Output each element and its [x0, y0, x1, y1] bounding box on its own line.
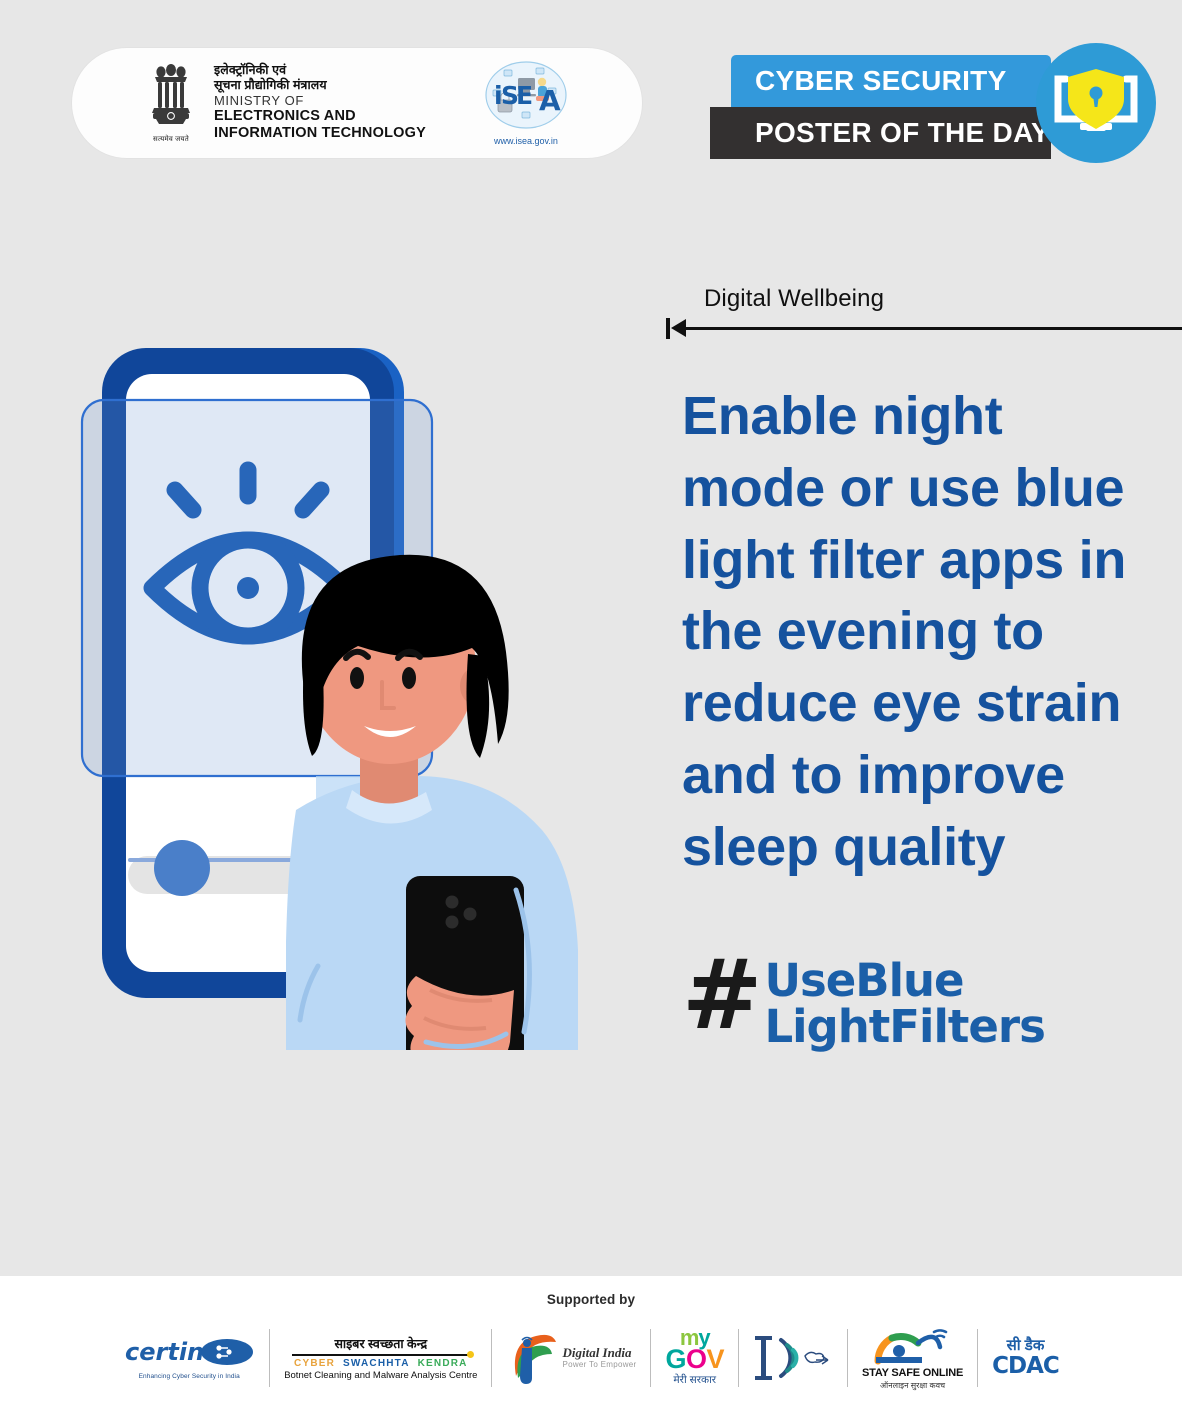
stay-safe-online-logo-icon: [872, 1325, 954, 1365]
state-emblem-block: सत्यमेव जयते: [138, 62, 204, 144]
certin-logo-icon: certin: [123, 1336, 255, 1370]
logo-stay-safe-online: STAY SAFE ONLINE ऑनलाइन सुरक्षा कवच: [848, 1325, 977, 1391]
rule-line: [682, 327, 1182, 330]
svg-text:certin: certin: [125, 1338, 204, 1366]
ribbon-poster-of-the-day: POSTER OF THE DAY: [710, 107, 1051, 159]
logo-certin: certin Enhancing Cyber Security in India: [109, 1325, 269, 1391]
hash-symbol: #: [682, 954, 758, 1037]
ministry-hindi-line1: इलेक्ट्रॉनिकी एवं: [214, 63, 426, 78]
divider-rule: [660, 315, 1182, 341]
poster-header: सत्यमेव जयते इलेक्ट्रॉनिकी एवं सूचना प्र…: [0, 0, 1182, 186]
logo-icc: [739, 1325, 847, 1391]
ministry-en-line3: INFORMATION TECHNOLOGY: [214, 125, 426, 142]
digital-india-text: Digital India Power To Empower: [562, 1346, 636, 1369]
page-title: Enable night mode or use blue light filt…: [682, 381, 1152, 884]
ribbon-line2: POSTER OF THE DAY: [755, 117, 1050, 149]
hashtag-line2: LightFilters: [764, 1004, 1044, 1050]
isea-logo-icon: i S E A: [484, 60, 568, 134]
ministry-hindi-line2: सूचना प्रौद्योगिकी मंत्रालय: [214, 78, 426, 93]
csk-rule: [292, 1354, 470, 1356]
partner-logo-row: certin Enhancing Cyber Security in India…: [0, 1319, 1182, 1397]
poster-footer: Supported by certin Enhancing Cyber Secu…: [0, 1276, 1182, 1418]
hashtag-words: UseBlue LightFilters: [764, 958, 1044, 1050]
ministry-en-line1: MINISTRY OF: [214, 93, 426, 108]
emblem-motto: सत्यमेव जयते: [153, 135, 189, 144]
digital-india-title: Digital India: [562, 1346, 636, 1360]
night-mode-illustration: [60, 290, 660, 1050]
supported-by-label: Supported by: [0, 1276, 1182, 1307]
category-label: Digital Wellbeing: [704, 285, 1182, 313]
cyber-security-badge: [1036, 43, 1156, 163]
logo-cyber-swachhta-kendra: साइबर स्वच्छता केन्द्र CYBER SWACHHTA KE…: [270, 1325, 491, 1391]
india-state-emblem-icon: [145, 62, 197, 134]
svg-text:A: A: [539, 84, 561, 117]
hashtag-block: # UseBlue LightFilters: [682, 954, 1182, 1050]
monitor-shield-lock-icon: [1036, 43, 1156, 163]
csk-english: CYBER SWACHHTA KENDRA: [294, 1358, 468, 1369]
isea-url: www.isea.gov.in: [494, 136, 558, 146]
digital-india-tagline: Power To Empower: [562, 1361, 636, 1370]
csk-dot-icon: [467, 1351, 474, 1358]
logo-digital-india: Digital India Power To Empower: [492, 1325, 650, 1391]
logo-cdac: सी डैक CDAC: [978, 1325, 1073, 1391]
cdac-hindi: सी डैक: [1007, 1338, 1045, 1353]
ribbon-line1: CYBER SECURITY: [755, 65, 1007, 97]
ministry-logo-pill: सत्यमेव जयते इलेक्ट्रॉनिकी एवं सूचना प्र…: [72, 48, 642, 158]
rule-end-cap: [666, 318, 670, 339]
icc-waves-logo-icon: [753, 1330, 833, 1386]
poster-illustration: [60, 290, 660, 1050]
certin-tagline: Enhancing Cyber Security in India: [139, 1373, 240, 1380]
cdac-english: CDAC: [992, 1355, 1059, 1378]
csk-subtitle: Botnet Cleaning and Malware Analysis Cen…: [284, 1370, 477, 1381]
ribbon-cyber-security: CYBER SECURITY: [731, 55, 1051, 107]
isea-logo-block: i S E A www.isea.gov.in: [484, 60, 568, 146]
mygov-gov: GOV: [665, 1347, 724, 1371]
ministry-en-line2: ELECTRONICS AND: [214, 108, 426, 125]
sso-hindi: ऑनलाइन सुरक्षा कवच: [880, 1380, 945, 1391]
poster-content: Digital Wellbeing Enable night mode or u…: [660, 285, 1182, 1049]
sso-title: STAY SAFE ONLINE: [862, 1367, 963, 1379]
ministry-text-block: इलेक्ट्रॉनिकी एवं सूचना प्रौद्योगिकी मंत…: [214, 63, 426, 142]
digital-india-logo-icon: [506, 1332, 558, 1384]
svg-text:E: E: [516, 81, 533, 110]
mygov-hindi: मेरी सरकार: [673, 1373, 716, 1387]
csk-hindi: साइबर स्वच्छता केन्द्र: [334, 1335, 427, 1352]
logo-mygov: my GOV मेरी सरकार: [651, 1325, 738, 1391]
hashtag-line1: UseBlue: [764, 958, 1044, 1004]
poster-ribbon: CYBER SECURITY POSTER OF THE DAY: [731, 55, 1051, 107]
person-holding-phone-icon: [286, 555, 578, 1050]
